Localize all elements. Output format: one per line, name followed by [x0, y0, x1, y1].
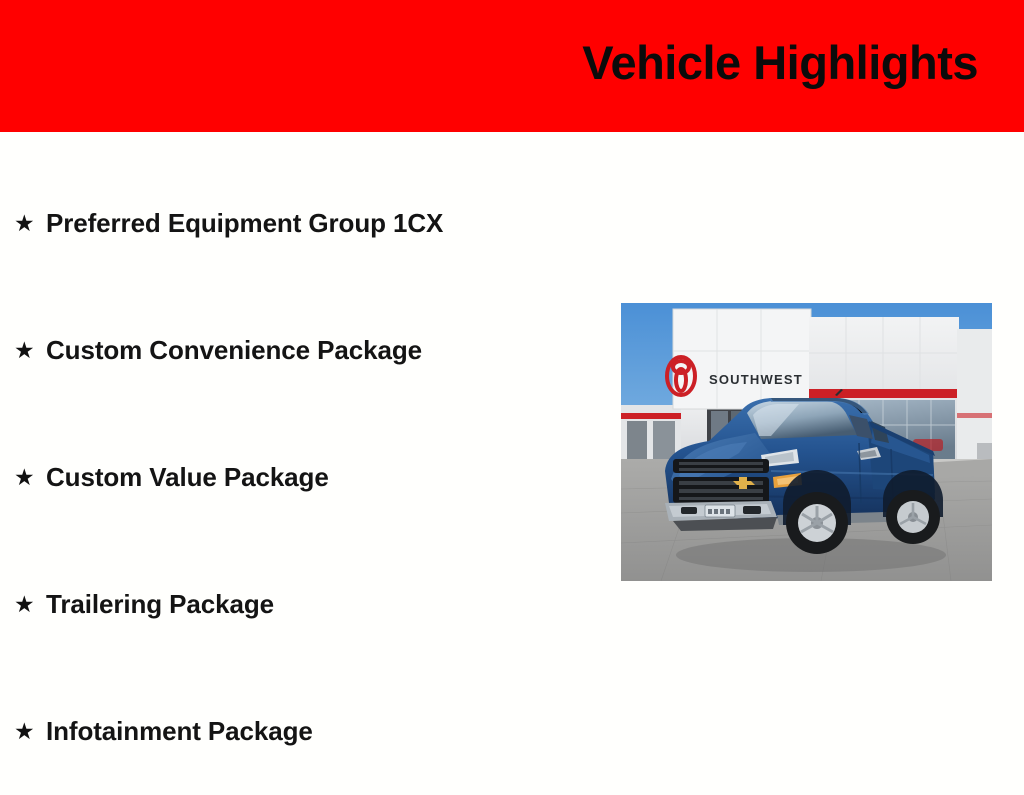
highlight-label: Custom Convenience Package [46, 335, 422, 366]
highlight-label: Trailering Package [46, 589, 274, 620]
list-item: ★ Custom Value Package [0, 414, 600, 541]
list-item: ★ Trailering Package [0, 541, 600, 668]
star-icon: ★ [14, 593, 46, 616]
vehicle-highlights-list: ★ Preferred Equipment Group 1CX ★ Custom… [0, 160, 600, 795]
highlight-label: Infotainment Package [46, 716, 313, 747]
star-icon: ★ [14, 212, 46, 235]
vehicle-photo-graphic: SOUTHWEST [621, 303, 992, 581]
vehicle-photo: SOUTHWEST [621, 303, 992, 581]
highlight-label: Preferred Equipment Group 1CX [46, 208, 443, 239]
svg-text:SOUTHWEST: SOUTHWEST [709, 372, 803, 387]
list-item: ★ Preferred Equipment Group 1CX [0, 160, 600, 287]
star-icon: ★ [14, 720, 46, 743]
header-banner: Vehicle Highlights [0, 0, 1024, 132]
list-item: ★ Infotainment Package [0, 668, 600, 795]
highlight-label: Custom Value Package [46, 462, 329, 493]
page-title: Vehicle Highlights [582, 36, 978, 90]
list-item: ★ Custom Convenience Package [0, 287, 600, 414]
star-icon: ★ [14, 339, 46, 362]
star-icon: ★ [14, 466, 46, 489]
